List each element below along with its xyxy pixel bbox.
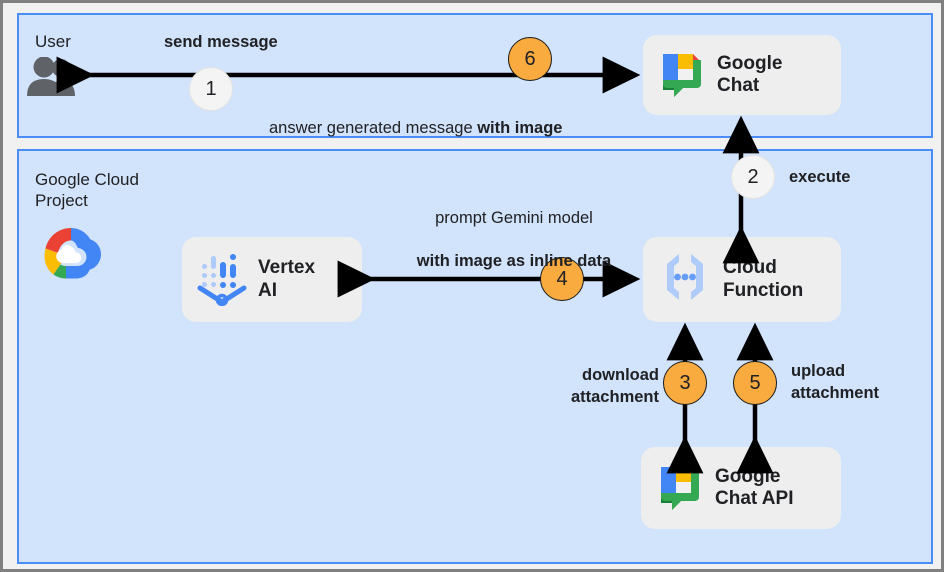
edge-label-prompt-line1: prompt Gemini model — [411, 208, 617, 230]
node-vertex-ai-label: Vertex AI — [258, 257, 315, 302]
edge-label-prompt-line2: with image as inline data — [411, 251, 617, 273]
vertex-ai-logo — [196, 248, 248, 311]
node-cloud-function[interactable]: Cloud Function — [643, 237, 841, 322]
panel-user-title: User — [35, 31, 71, 52]
edge-label-execute: execute — [789, 167, 850, 189]
step-badge-2: 2 — [731, 155, 775, 199]
edge-label-download-attachment: download attachment — [527, 365, 659, 409]
edge-label-answer-prefix: answer generated message — [269, 119, 477, 137]
node-google-chat-api[interactable]: Google Chat API — [641, 447, 841, 529]
step-badge-3: 3 — [663, 361, 707, 405]
users-icon — [25, 57, 81, 102]
edge-label-answer-emphasis: with image — [477, 119, 562, 137]
google-chat-logo — [655, 461, 705, 516]
edge-label-answer-generated-message: answer generated message with image — [269, 96, 562, 140]
step-badge-1: 1 — [189, 67, 233, 111]
node-cloud-function-label: Cloud Function — [723, 257, 803, 302]
node-vertex-ai[interactable]: Vertex AI — [182, 237, 362, 322]
panel-google-cloud-project-title: Google Cloud Project — [35, 169, 139, 212]
edge-label-upload-attachment: upload attachment — [791, 361, 921, 405]
google-chat-logo — [657, 48, 707, 103]
google-cloud-logo — [36, 225, 106, 292]
node-google-chat[interactable]: Google Chat — [643, 35, 841, 115]
node-google-chat-api-label: Google Chat API — [715, 466, 793, 511]
step-badge-5: 5 — [733, 361, 777, 405]
diagram-canvas: User Google Cloud Project — [0, 0, 944, 572]
cloud-function-logo — [657, 248, 713, 311]
node-google-chat-label: Google Chat — [717, 53, 782, 98]
edge-label-prompt-gemini: prompt Gemini model with image as inline… — [411, 186, 617, 295]
step-badge-6: 6 — [508, 37, 552, 81]
edge-label-send-message: send message — [164, 32, 278, 54]
